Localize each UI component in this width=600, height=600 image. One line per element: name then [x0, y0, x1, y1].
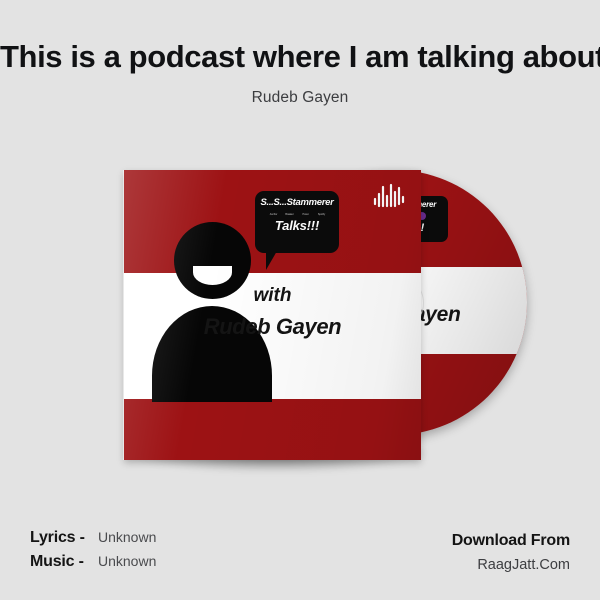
artist-name: Rudeb Gayen [0, 89, 600, 107]
footer: Lyrics - Unknown Music - Unknown Downloa… [0, 520, 600, 600]
page-title: This is a podcast where I am talking abo… [0, 41, 600, 72]
header: This is a podcast where I am talking abo… [0, 0, 600, 107]
artwork-stage: S...S...Stammerer Talks!!! with Rudeb Ga… [0, 150, 600, 490]
download-block: Download From RaagJatt.Com [452, 529, 570, 577]
download-heading: Download From [452, 529, 570, 553]
download-site[interactable]: RaagJatt.Com [452, 553, 570, 577]
credit-row-lyrics: Lyrics - Unknown [30, 529, 156, 553]
music-value: Unknown [98, 553, 156, 569]
music-label: Music - [30, 553, 98, 571]
album-cover: S...S...Stammerer Anchor Breaker Pcast [124, 170, 421, 460]
album-art-card: This is a podcast where I am talking abo… [0, 0, 600, 600]
lyrics-label: Lyrics - [30, 529, 98, 547]
credit-row-music: Music - Unknown [30, 553, 156, 577]
credits-block: Lyrics - Unknown Music - Unknown [30, 529, 156, 577]
lyrics-value: Unknown [98, 529, 156, 545]
cover-sheen [124, 170, 421, 460]
